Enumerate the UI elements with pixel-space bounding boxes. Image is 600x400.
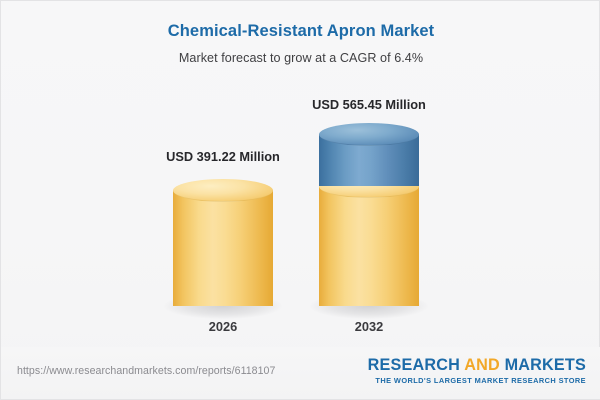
- source-url-link[interactable]: https://www.researchandmarkets.com/repor…: [17, 365, 275, 377]
- plot-area: USD 391.22 Million 2026 USD 565.45 Milli…: [1, 1, 600, 349]
- logo-word-research: RESEARCH: [368, 356, 460, 374]
- logo-tagline: THE WORLD'S LARGEST MARKET RESEARCH STOR…: [368, 376, 586, 385]
- bar-category-label-2032: 2032: [259, 319, 479, 334]
- logo-word-and: AND: [464, 356, 500, 374]
- bar-segment-2026-base: [173, 179, 273, 306]
- footer: https://www.researchandmarkets.com/repor…: [1, 347, 600, 399]
- bar-segment-2032-base: [319, 186, 419, 306]
- bar-value-label-2032: USD 565.45 Million: [259, 97, 479, 112]
- bar-segment-2032-growth: [319, 123, 419, 197]
- bar-value-label-2026: USD 391.22 Million: [113, 149, 333, 164]
- cylinder-top-ellipse: [173, 179, 273, 202]
- cylinder-top-ellipse: [319, 123, 419, 146]
- research-and-markets-logo[interactable]: RESEARCH AND MARKETS THE WORLD'S LARGEST…: [368, 357, 586, 385]
- logo-wordmark: RESEARCH AND MARKETS: [368, 357, 586, 374]
- chart-image: Chemical-Resistant Apron Market Market f…: [0, 0, 600, 400]
- logo-word-markets: MARKETS: [505, 356, 586, 374]
- cylinder-body: [173, 190, 273, 306]
- cylinder-body: [319, 186, 419, 306]
